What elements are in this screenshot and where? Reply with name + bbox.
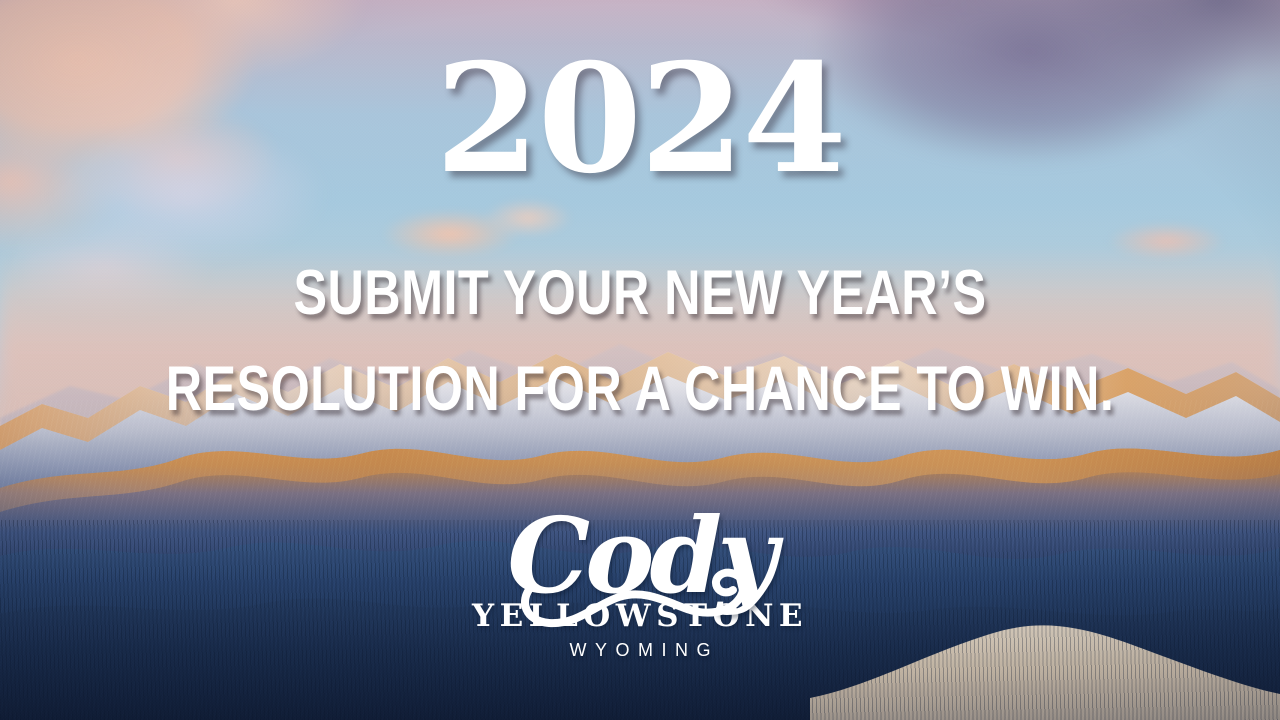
headline-line-2: RESOLUTION FOR A CHANCE TO WIN.: [128, 342, 1152, 438]
poster-content: 2024 SUBMIT YOUR NEW YEAR’S RESOLUTION F…: [0, 0, 1280, 720]
poster-canvas: 2024 SUBMIT YOUR NEW YEAR’S RESOLUTION F…: [0, 0, 1280, 720]
year-title: 2024: [0, 44, 1280, 194]
logo-script-cody-text: Cody: [507, 494, 772, 617]
cody-yellowstone-logo: Cody YELLOWSTONE WYOMING: [0, 505, 1280, 659]
headline-line-1: SUBMIT YOUR NEW YEAR’S: [128, 246, 1152, 342]
logo-state-wyoming: WYOMING: [0, 641, 1280, 659]
logo-script-cody: Cody: [507, 505, 772, 607]
headline: SUBMIT YOUR NEW YEAR’S RESOLUTION FOR A …: [128, 246, 1152, 438]
